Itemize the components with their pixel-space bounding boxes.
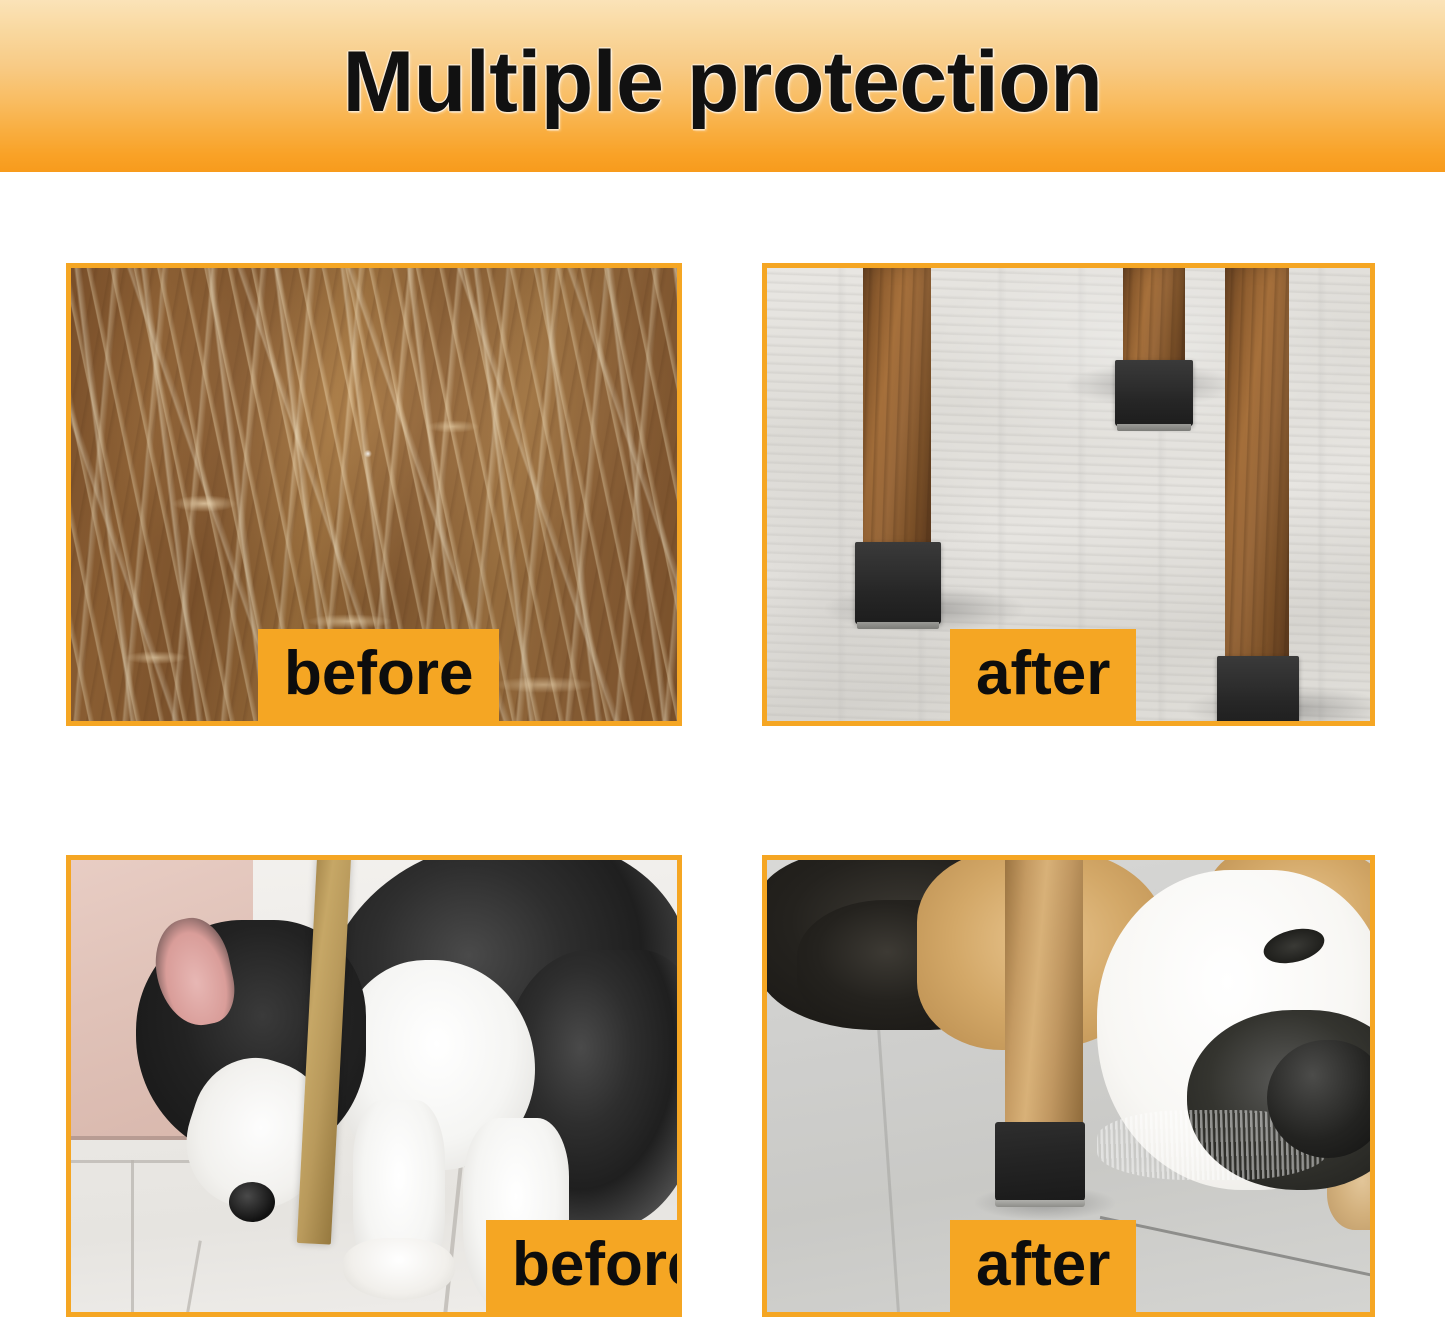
panel-before-floor: before (66, 263, 682, 726)
furniture-cap-right (1217, 656, 1299, 721)
husky-paw-left (343, 1238, 455, 1300)
chair-leg-with-protector (1005, 860, 1083, 1134)
table-leg-right (1225, 268, 1289, 668)
caption-before-bottom-left: before (486, 1220, 682, 1312)
husky-nose (229, 1182, 275, 1222)
table-leg-front-left (863, 268, 931, 556)
caption-after-top-right: after (950, 629, 1136, 721)
caption-after-bottom-right: after (950, 1220, 1136, 1312)
furniture-cap-front-left (855, 542, 941, 624)
panel-after-dog-resting: after (762, 855, 1375, 1317)
panel-after-table-legs: after (762, 263, 1375, 726)
tile-grout-line-2 (131, 1160, 134, 1312)
caption-before-top-left: before (258, 629, 499, 721)
header-banner: Multiple protection (0, 0, 1445, 172)
page-title: Multiple protection (0, 0, 1445, 172)
furniture-cap-back (1115, 360, 1193, 426)
panel-before-dog-chewing: before (66, 855, 682, 1317)
chair-leg-protector-cap (995, 1122, 1085, 1202)
